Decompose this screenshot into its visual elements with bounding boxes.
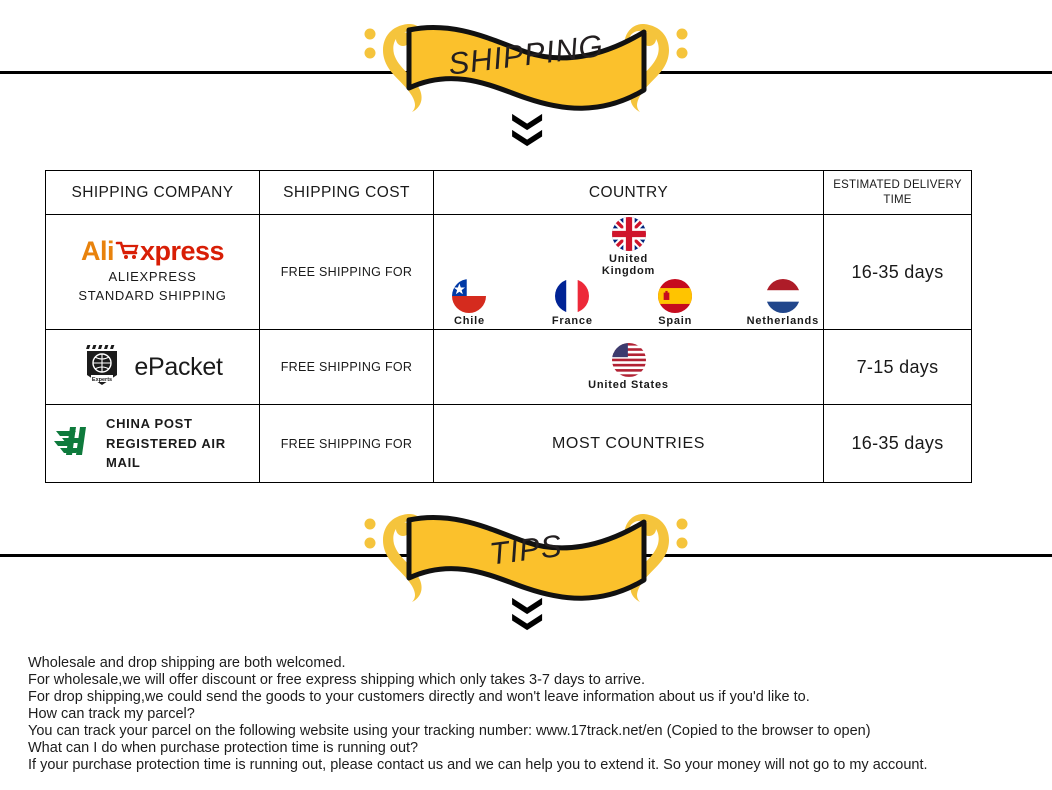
spain-flag-icon — [658, 279, 692, 313]
france-flag-icon — [555, 279, 589, 313]
aliexpress-logo-ali: Ali — [81, 238, 114, 265]
cell-countries-china-post: MOST COUNTRIES — [434, 405, 824, 483]
united-states-flag-icon — [612, 343, 646, 377]
shipping-chevrons: ❮ ❮ — [513, 114, 538, 145]
header-shipping-company: SHIPPING COMPANY — [46, 171, 260, 215]
cell-countries-epacket: United States — [434, 330, 824, 405]
flag-label-netherlands: Netherlands — [747, 315, 819, 327]
table-header-row: SHIPPING COMPANY SHIPPING COST COUNTRY E… — [46, 171, 972, 215]
flag-label-chile: Chile — [454, 315, 485, 327]
tips-line-5: You can track your parcel on the followi… — [28, 723, 1048, 740]
shipping-table: SHIPPING COMPANY SHIPPING COST COUNTRY E… — [45, 170, 972, 483]
table-row: Ali xpress ALIEXPRESS — [46, 215, 972, 330]
tips-line-2: For wholesale,we will offer discount or … — [28, 672, 1048, 689]
chile-flag-icon — [452, 279, 486, 313]
svg-text:Experts: Experts — [92, 377, 112, 383]
flag-label-france: France — [552, 315, 593, 327]
aliexpress-logo: Ali xpress — [81, 238, 224, 265]
header-country: COUNTRY — [434, 171, 824, 215]
cell-cost-epacket: FREE SHIPPING FOR — [260, 330, 434, 405]
cell-cost-china-post: FREE SHIPPING FOR — [260, 405, 434, 483]
united-kingdom-flag-icon — [612, 217, 646, 251]
cell-cost-aliexpress: FREE SHIPPING FOR — [260, 215, 434, 330]
cell-time-china-post: 16-35 days — [824, 405, 972, 483]
cell-company-epacket: Experts ePacket — [46, 330, 260, 405]
flag-item-france: France — [541, 279, 604, 327]
netherlands-flag-icon — [766, 279, 800, 313]
flag-label-united-kingdom: United Kingdom — [590, 253, 668, 277]
china-post-label-line1: CHINA POST — [106, 414, 255, 434]
china-post-label-line2: REGISTERED AIR MAIL — [106, 434, 255, 473]
aliexpress-logo-xpress: xpress — [140, 238, 224, 265]
tips-line-1: Wholesale and drop shipping are both wel… — [28, 655, 1048, 672]
epacket-label: ePacket — [134, 353, 222, 382]
tips-line-3: For drop shipping,we could send the good… — [28, 689, 1048, 706]
epacket-logo: Experts — [82, 343, 122, 392]
flag-item-chile: Chile — [438, 279, 501, 327]
aliexpress-name-line1: ALIEXPRESS — [78, 268, 226, 287]
flag-label-spain: Spain — [658, 315, 692, 327]
header-shipping-cost: SHIPPING COST — [260, 171, 434, 215]
china-post-logo — [50, 421, 94, 466]
cell-company-china-post: CHINA POST REGISTERED AIR MAIL — [46, 405, 260, 483]
cell-time-aliexpress: 16-35 days — [824, 215, 972, 330]
chevron-down-icon: ❮ — [518, 125, 534, 150]
flag-item-spain: Spain — [644, 279, 707, 327]
tips-chevrons: ❮ ❮ — [513, 598, 538, 629]
header-estimated-delivery-time: ESTIMATED DELIVERY TIME — [824, 171, 972, 215]
flag-label-united-states: United States — [588, 379, 669, 391]
tips-line-4: How can track my parcel? — [28, 706, 1048, 723]
aliexpress-name-line2: STANDARD SHIPPING — [78, 287, 226, 306]
tips-text-block: Wholesale and drop shipping are both wel… — [28, 655, 1048, 774]
flag-item-netherlands: Netherlands — [747, 279, 819, 327]
flag-item-united-kingdom: United Kingdom — [590, 217, 668, 277]
tips-line-6: What can I do when purchase protection t… — [28, 740, 1048, 757]
shipping-banner-block: SHIPPING — [0, 0, 1052, 112]
cell-time-epacket: 7-15 days — [824, 330, 972, 405]
chevron-down-icon: ❮ — [518, 609, 534, 634]
shopping-cart-icon — [115, 238, 139, 265]
table-row: Experts ePacket FREE SHIPPING FOR — [46, 330, 972, 405]
cell-countries-aliexpress: United Kingdom Chile — [434, 215, 824, 330]
table-row: CHINA POST REGISTERED AIR MAIL FREE SHIP… — [46, 405, 972, 483]
cell-company-aliexpress: Ali xpress ALIEXPRESS — [46, 215, 260, 330]
tips-line-7: If your purchase protection time is runn… — [28, 757, 1048, 774]
